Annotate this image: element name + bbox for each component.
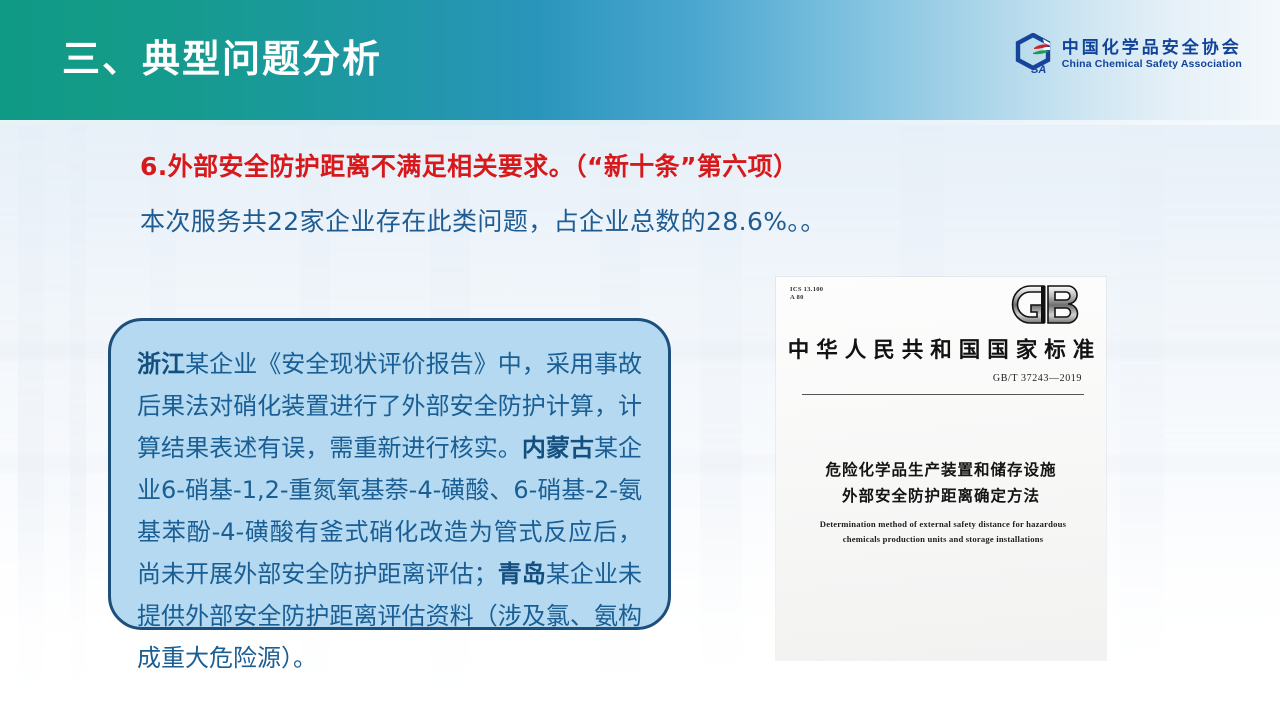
gb-ics-line2: A 80 (790, 294, 823, 302)
association-logo: SA 中国化学品安全协会 China Chemical Safety Assoc… (1014, 33, 1242, 77)
callout-emphasis: 内蒙古 (522, 434, 594, 462)
section-subline: 本次服务共22家企业存在此类问题，占企业总数的28.6%。。 (140, 207, 826, 237)
association-name-cn: 中国化学品安全协会 (1062, 40, 1242, 58)
gb-title-line-1: 危险化学品生产装置和储存设施 (776, 457, 1106, 483)
callout-emphasis: 青岛 (498, 560, 546, 588)
association-name-en: China Chemical Safety Association (1062, 59, 1242, 70)
csa-hexagon-icon: SA (1014, 33, 1054, 77)
page-title: 三、典型问题分析 (62, 40, 382, 78)
callout-paragraph: 浙江某企业《安全现状评价报告》中，采用事故后果法对硝化装置进行了外部安全防护计算… (137, 343, 642, 679)
gb-subtitle-line-1: Determination method of external safety … (806, 517, 1080, 532)
gb-national-standard-title: 中华人民共和国国家标准 (776, 333, 1106, 364)
gb-subtitle-line-2: chemicals production units and storage i… (806, 532, 1080, 547)
gb-document-subtitle: Determination method of external safety … (806, 517, 1080, 547)
gb-standard-code: GB/T 37243—2019 (993, 373, 1082, 384)
callout-box: 浙江某企业《安全现状评价报告》中，采用事故后果法对硝化装置进行了外部安全防护计算… (108, 318, 671, 630)
gb-ics-code: ICS 13.100 A 80 (790, 286, 823, 302)
svg-text:SA: SA (1031, 64, 1046, 76)
slide-root: 三、典型问题分析 SA 中国化学品安全协会 China Chemical Saf… (0, 0, 1280, 720)
gb-ics-line1: ICS 13.100 (790, 286, 823, 294)
gb-title-line-2: 外部安全防护距离确定方法 (776, 483, 1106, 509)
callout-emphasis: 浙江 (137, 350, 185, 378)
section-headline: 6.外部安全防护距离不满足相关要求。（“新十条”第六项） (140, 152, 798, 182)
gb-emblem-icon (1008, 283, 1086, 326)
association-logo-text: 中国化学品安全协会 China Chemical Safety Associat… (1062, 40, 1242, 71)
gb-standard-cover-image: ICS 13.100 A 80 (776, 277, 1106, 660)
header-underline (0, 120, 1280, 125)
gb-divider-rule (802, 394, 1084, 395)
gb-document-title: 危险化学品生产装置和储存设施 外部安全防护距离确定方法 (776, 457, 1106, 509)
